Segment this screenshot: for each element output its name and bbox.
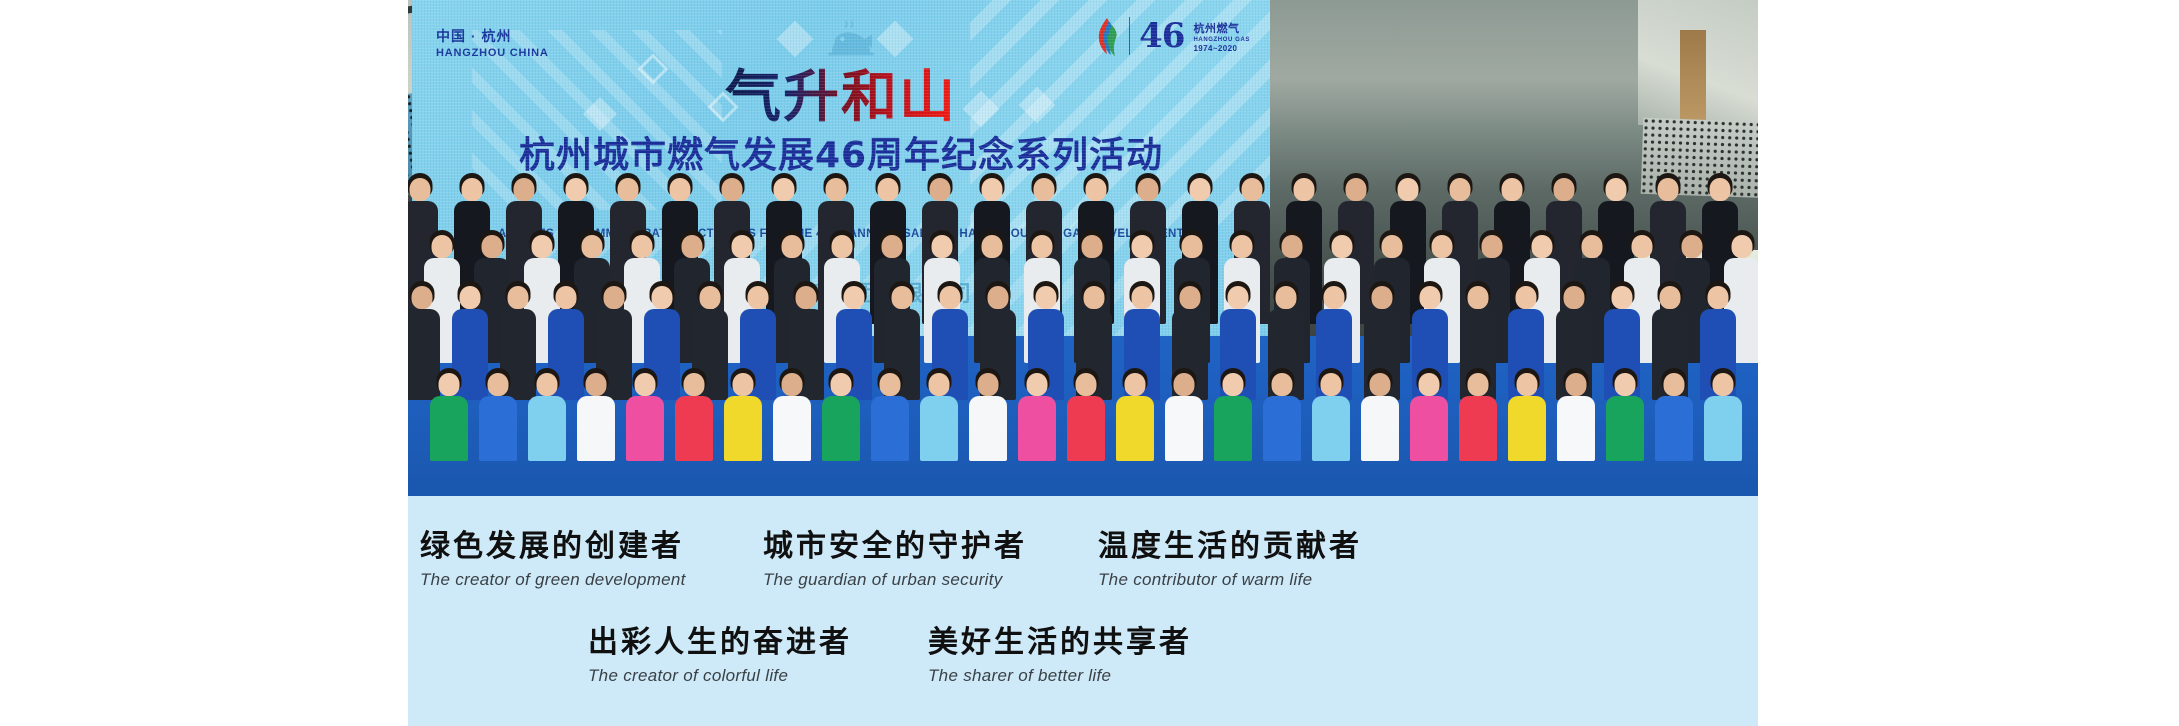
person-head	[1190, 178, 1211, 201]
person-torso	[1214, 396, 1252, 461]
slogan-colorful-life: 出彩人生的奋进者 The creator of colorful life	[588, 626, 852, 686]
person	[479, 369, 517, 461]
slogan-en: The sharer of better life	[928, 666, 1192, 686]
person-head	[632, 235, 653, 258]
person-torso	[920, 396, 958, 461]
person-head	[1382, 235, 1403, 258]
person-torso	[1263, 396, 1301, 461]
person-head	[618, 178, 639, 201]
person-torso	[626, 396, 664, 461]
person-head	[488, 373, 509, 396]
person-head	[722, 178, 743, 201]
person-head	[537, 373, 558, 396]
person	[773, 369, 811, 461]
person-torso	[871, 396, 909, 461]
person-head	[831, 373, 852, 396]
person	[1606, 369, 1644, 461]
person-head	[733, 373, 754, 396]
slogan-panel: 绿色发展的创建者 The creator of green developmen…	[408, 496, 1758, 726]
slogan-en: The contributor of warm life	[1098, 570, 1362, 590]
slogan-cn: 温度生活的贡献者	[1098, 530, 1362, 565]
person-head	[586, 373, 607, 396]
crowd-of-people	[408, 176, 1758, 496]
person-head	[844, 286, 865, 309]
led-location-cn: 中国 · 杭州	[436, 26, 549, 46]
person-head	[796, 286, 817, 309]
person-head	[978, 373, 999, 396]
person-head	[700, 286, 721, 309]
person-head	[1276, 286, 1297, 309]
person	[822, 369, 860, 461]
flame-icon	[1094, 16, 1120, 56]
person-head	[1242, 178, 1263, 201]
person-head	[1713, 373, 1734, 396]
person-torso	[1459, 396, 1497, 461]
person-head	[782, 235, 803, 258]
person	[1263, 369, 1301, 461]
person-head	[1370, 373, 1391, 396]
person	[577, 369, 615, 461]
person-torso	[430, 396, 468, 461]
led-location-block: 中国 · 杭州 HANGZHOU CHINA	[436, 26, 549, 62]
person-head	[460, 286, 481, 309]
content-band: 中国 · 杭州 HANGZHOU CHINA 46 杭州燃气 HANGZHOU …	[408, 0, 1758, 726]
person	[675, 369, 713, 461]
person-head	[892, 286, 913, 309]
led-location-en: HANGZHOU CHINA	[436, 46, 549, 62]
person-head	[1174, 373, 1195, 396]
person-head	[670, 178, 691, 201]
person-head	[882, 235, 903, 258]
person	[1165, 369, 1203, 461]
person	[1214, 369, 1252, 461]
person-torso	[1116, 396, 1154, 461]
person-head	[1036, 286, 1057, 309]
event-title: 杭州城市燃气发展46周年纪念系列活动	[519, 126, 1163, 178]
slogan-cn: 城市安全的守护者	[763, 530, 1027, 565]
person-head	[1372, 286, 1393, 309]
person-head	[1502, 178, 1523, 201]
person	[1361, 369, 1399, 461]
person-torso	[969, 396, 1007, 461]
person-head	[1282, 235, 1303, 258]
person-head	[604, 286, 625, 309]
person-head	[508, 286, 529, 309]
person-head	[1732, 235, 1753, 258]
person-head	[1076, 373, 1097, 396]
person-head	[432, 235, 453, 258]
person-torso	[479, 396, 517, 461]
anniversary-years: 1974~2020	[1193, 44, 1250, 53]
person-head	[1132, 286, 1153, 309]
page-root: 中国 · 杭州 HANGZHOU CHINA 46 杭州燃气 HANGZHOU …	[0, 0, 2179, 726]
company-name-en: HANGZHOU GAS	[1193, 37, 1250, 43]
person	[1508, 369, 1546, 461]
slogan-en: The creator of green development	[420, 570, 686, 590]
person-head	[1027, 373, 1048, 396]
slogan-urban-security: 城市安全的守护者 The guardian of urban security	[763, 530, 1027, 590]
person-torso	[675, 396, 713, 461]
event-logotype: 气升和山	[725, 52, 957, 133]
slogan-en: The creator of colorful life	[588, 666, 852, 686]
person	[1655, 369, 1693, 461]
person-head	[982, 235, 1003, 258]
person-head	[932, 235, 953, 258]
person-head	[982, 178, 1003, 201]
person-torso	[1704, 396, 1742, 461]
group-photo: 中国 · 杭州 HANGZHOU CHINA 46 杭州燃气 HANGZHOU …	[408, 0, 1758, 496]
person	[1704, 369, 1742, 461]
slogan-cn: 出彩人生的奋进者	[588, 626, 852, 661]
person-torso	[1557, 396, 1595, 461]
person-head	[880, 373, 901, 396]
person-head	[410, 178, 431, 201]
person-head	[1032, 235, 1053, 258]
person-torso	[1067, 396, 1105, 461]
person-head	[1632, 235, 1653, 258]
person	[969, 369, 1007, 461]
person-head	[1582, 235, 1603, 258]
person-head	[1468, 373, 1489, 396]
person-head	[1034, 178, 1055, 201]
person-head	[532, 235, 553, 258]
anniversary-number: 46	[1139, 19, 1184, 53]
person-head	[1482, 235, 1503, 258]
person-head	[1321, 373, 1342, 396]
person-head	[1228, 286, 1249, 309]
person-head	[1708, 286, 1729, 309]
person-head	[782, 373, 803, 396]
person-head	[1710, 178, 1731, 201]
person-head	[1660, 286, 1681, 309]
anniversary-company-block: 杭州燃气 HANGZHOU GAS 1974~2020	[1193, 20, 1250, 53]
company-name-cn: 杭州燃气	[1193, 20, 1250, 36]
person	[1459, 369, 1497, 461]
person-head	[412, 286, 433, 309]
person	[871, 369, 909, 461]
person-head	[1346, 178, 1367, 201]
person-head	[940, 286, 961, 309]
person-torso	[1165, 396, 1203, 461]
person-head	[1664, 373, 1685, 396]
slogan-cn: 美好生活的共享者	[928, 626, 1192, 661]
person-head	[826, 178, 847, 201]
person-head	[1450, 178, 1471, 201]
person-head	[1615, 373, 1636, 396]
person	[430, 369, 468, 461]
slogan-warm-life: 温度生活的贡献者 The contributor of warm life	[1098, 530, 1362, 590]
person	[920, 369, 958, 461]
person-torso	[528, 396, 566, 461]
person-head	[1182, 235, 1203, 258]
person-head	[1517, 373, 1538, 396]
person-head	[1138, 178, 1159, 201]
person-head	[1682, 235, 1703, 258]
person-torso	[1410, 396, 1448, 461]
person-head	[1468, 286, 1489, 309]
anniversary-logo: 46 杭州燃气 HANGZHOU GAS 1974~2020	[1094, 16, 1250, 56]
person-head	[1324, 286, 1345, 309]
slogan-cn: 绿色发展的创建者	[420, 530, 686, 565]
person-head	[684, 373, 705, 396]
person-head	[1398, 178, 1419, 201]
person-torso	[822, 396, 860, 461]
logo-divider	[1129, 17, 1130, 55]
person-head	[556, 286, 577, 309]
person-head	[1125, 373, 1146, 396]
person-head	[1606, 178, 1627, 201]
person-head	[566, 178, 587, 201]
person-head	[1516, 286, 1537, 309]
person	[1312, 369, 1350, 461]
person-head	[462, 178, 483, 201]
slogan-green-development: 绿色发展的创建者 The creator of green developmen…	[420, 530, 686, 590]
person-torso	[1606, 396, 1644, 461]
person	[626, 369, 664, 461]
person-head	[748, 286, 769, 309]
person-head	[929, 373, 950, 396]
person-head	[1532, 235, 1553, 258]
person-torso	[773, 396, 811, 461]
person-torso	[1508, 396, 1546, 461]
person-torso	[1655, 396, 1693, 461]
person-torso	[1361, 396, 1399, 461]
person-head	[1132, 235, 1153, 258]
person-head	[1232, 235, 1253, 258]
person-head	[1272, 373, 1293, 396]
person-torso	[724, 396, 762, 461]
person-head	[732, 235, 753, 258]
person-head	[1554, 178, 1575, 201]
person-head	[1086, 178, 1107, 201]
person	[528, 369, 566, 461]
person-head	[1566, 373, 1587, 396]
person-head	[1223, 373, 1244, 396]
person-head	[439, 373, 460, 396]
person-head	[988, 286, 1009, 309]
person	[724, 369, 762, 461]
slogan-en: The guardian of urban security	[763, 570, 1027, 590]
person-head	[1180, 286, 1201, 309]
person-head	[1612, 286, 1633, 309]
person-torso	[1312, 396, 1350, 461]
person-head	[832, 235, 853, 258]
person-head	[1332, 235, 1353, 258]
person-head	[1084, 286, 1105, 309]
person-head	[1420, 286, 1441, 309]
person	[1067, 369, 1105, 461]
person-head	[1294, 178, 1315, 201]
person-head	[1564, 286, 1585, 309]
person-head	[635, 373, 656, 396]
person	[1018, 369, 1056, 461]
person-head	[1082, 235, 1103, 258]
person-head	[1419, 373, 1440, 396]
slogan-better-life: 美好生活的共享者 The sharer of better life	[928, 626, 1192, 686]
person	[1557, 369, 1595, 461]
person-torso	[577, 396, 615, 461]
person-head	[682, 235, 703, 258]
person-head	[482, 235, 503, 258]
person-torso	[1018, 396, 1056, 461]
person-head	[1432, 235, 1453, 258]
person-head	[582, 235, 603, 258]
person	[1116, 369, 1154, 461]
person	[1410, 369, 1448, 461]
person-head	[514, 178, 535, 201]
person-head	[878, 178, 899, 201]
person-head	[652, 286, 673, 309]
person-head	[930, 178, 951, 201]
person-head	[1658, 178, 1679, 201]
person-head	[774, 178, 795, 201]
